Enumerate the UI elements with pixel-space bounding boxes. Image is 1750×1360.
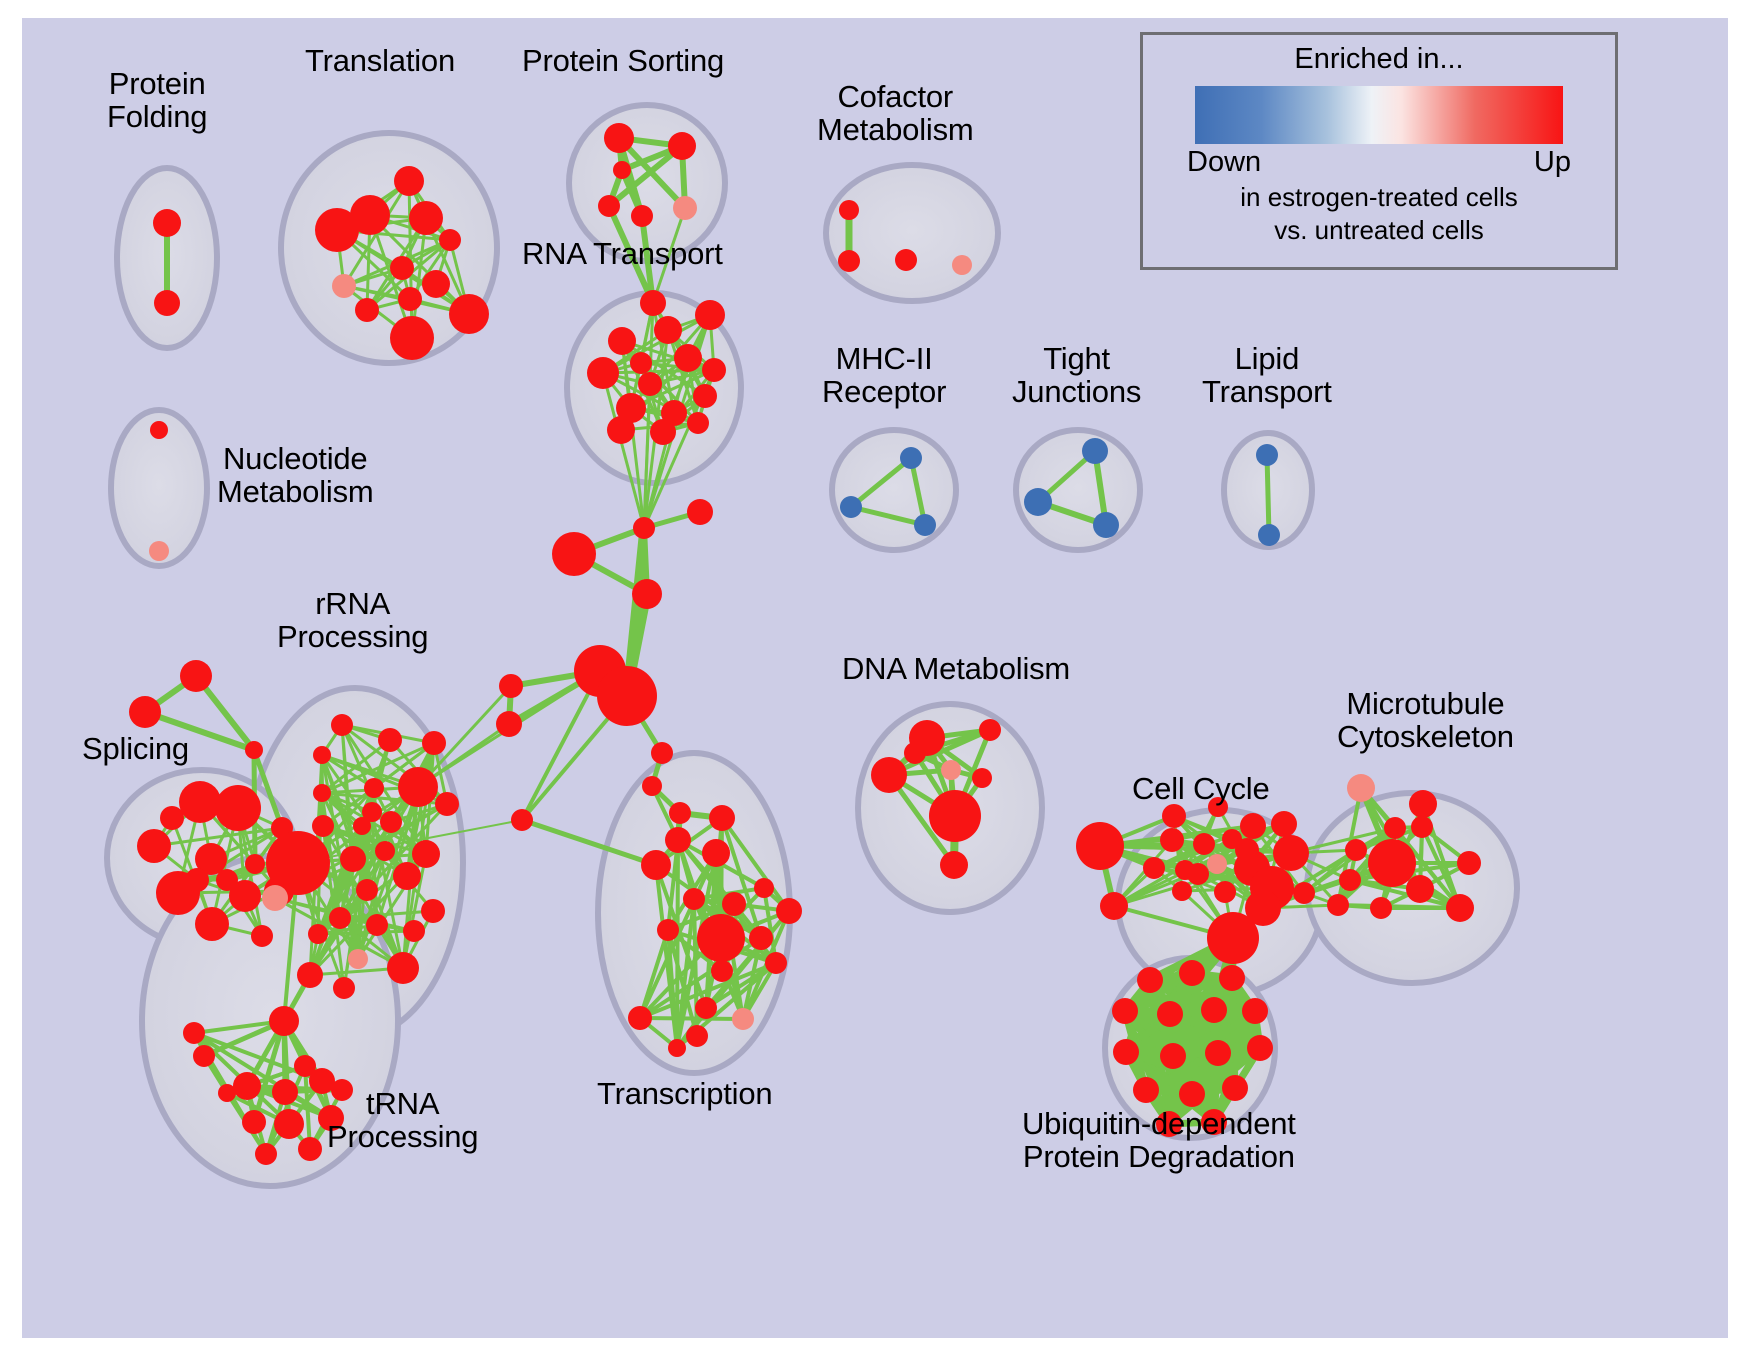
legend-title: Enriched in... [1143,43,1615,76]
network-node-up [422,270,450,298]
network-node-up [378,728,402,752]
network-node-up [665,827,691,853]
network-node-up [398,767,438,807]
network-node-up [687,412,709,434]
network-node-up [398,287,422,311]
network-node-up [1076,822,1124,870]
network-node-up [604,123,634,153]
network-node-light [673,196,697,220]
network-node-up [380,811,402,833]
network-node-up [1193,833,1215,855]
network-node-up [940,851,968,879]
network-node-up [1409,790,1437,818]
network-node-up [1345,839,1367,861]
network-node-up [274,1109,304,1139]
network-node-up [362,802,382,822]
network-node-light [332,274,356,298]
cluster-label-cell-cycle: Cell Cycle [1132,773,1270,806]
network-node-down [1093,512,1119,538]
cluster-label-microtubule-cytoskeleton: Microtubule Cytoskeleton [1337,688,1514,754]
network-node-light [941,760,961,780]
network-node-up [638,372,662,396]
network-node-up [245,741,263,759]
network-node-up [1457,851,1481,875]
network-node-up [1273,835,1309,871]
network-node-up [1113,1039,1139,1065]
network-node-up [1411,816,1433,838]
network-node-up [651,742,673,764]
network-node-up [366,914,388,936]
network-node-up [356,879,378,901]
network-node-up [1205,1040,1231,1066]
network-node-up [390,256,414,280]
network-node-up [722,892,746,916]
legend-gradient-bar [1195,86,1563,144]
network-node-up [297,962,323,988]
network-node-up [597,666,657,726]
network-node-up [364,778,384,798]
network-node-up [195,907,229,941]
network-node-up [439,229,461,251]
network-node-up [1160,1043,1186,1069]
network-node-up [355,298,379,322]
network-node-up [394,166,424,196]
network-node-up [375,841,395,861]
network-node-up [390,316,434,360]
legend-sub-line2: vs. untreated cells [1143,216,1615,245]
network-node-up [1201,997,1227,1023]
network-node-up [839,200,859,220]
network-node-up [607,416,635,444]
network-node-up [1207,912,1259,964]
network-node-up [632,579,662,609]
network-node-up [695,997,717,1019]
network-node-up [1242,998,1268,1024]
cluster-label-protein-sorting: Protein Sorting [522,45,724,78]
cluster-label-lipid-transport: Lipid Transport [1202,343,1332,409]
network-node-up [641,850,671,880]
network-node-up [496,711,522,737]
network-node-up [331,714,353,736]
network-node-up [409,201,443,235]
network-node-up [1112,998,1138,1024]
network-node-down [914,514,936,536]
network-node-up [630,352,652,374]
cluster-label-rna-transport: RNA Transport [522,238,723,271]
network-node-up [640,290,666,316]
network-node-up [1160,828,1184,852]
network-node-up [435,792,459,816]
network-node-up [1187,863,1209,885]
network-node-up [294,1055,316,1077]
network-node-down [1024,488,1052,516]
network-node-up [1219,965,1245,991]
network-node-up [702,839,730,867]
network-node-up [1137,967,1163,993]
network-node-up [1179,960,1205,986]
network-node-up [242,1110,266,1134]
network-node-up [185,868,209,892]
network-node-up [1100,892,1128,920]
network-node-up [552,532,596,576]
network-node-up [251,925,273,947]
network-node-up [150,421,168,439]
network-node-up [654,316,682,344]
network-node-up [1293,882,1315,904]
network-node-up [693,384,717,408]
cluster-label-protein-folding: Protein Folding [107,68,207,134]
network-node-up [895,249,917,271]
network-node-up [697,914,745,962]
network-node-up [179,781,221,823]
network-node-up [686,1025,708,1047]
network-node-up [422,731,446,755]
network-node-up [674,344,702,372]
network-node-up [608,327,636,355]
network-node-up [687,499,713,525]
network-node-up [511,809,533,831]
network-node-up [628,1006,652,1030]
network-node-up [387,952,419,984]
network-node-up [613,161,631,179]
legend-box: Enriched in... Down Up in estrogen-treat… [1140,32,1618,270]
network-node-up [215,785,261,831]
network-node-up [749,926,773,950]
network-node-up [160,806,184,830]
network-node-up [1339,869,1361,891]
network-node-up [657,919,679,941]
network-node-up [1384,817,1406,839]
cluster-label-transcription: Transcription [597,1078,772,1111]
network-node-down [1082,438,1108,464]
network-node-up [1247,1035,1273,1061]
network-node-up [1172,881,1192,901]
network-node-up [245,854,265,874]
legend-sub-line1: in estrogen-treated cells [1143,183,1615,212]
network-node-up [269,1006,299,1036]
legend-up-label: Up [1534,146,1571,179]
network-node-up [154,290,180,316]
network-node-up [313,784,331,802]
network-node-up [1179,1081,1205,1107]
network-node-down [1258,524,1280,546]
network-node-up [421,899,445,923]
network-node-up [153,209,181,237]
network-node-up [313,746,331,764]
network-node-up [298,1137,322,1161]
network-edge [677,840,678,1048]
network-node-up [587,357,619,389]
cluster-label-nucleotide-metabolism: Nucleotide Metabolism [217,443,374,509]
network-node-up [631,205,653,227]
network-node-up [393,862,421,890]
network-node-up [1157,1001,1183,1027]
cluster-label-cofactor-metabolism: Cofactor Metabolism [817,81,974,147]
cluster-ellipse-mhc-ii-receptor [832,430,956,550]
network-node-up [403,920,425,942]
network-node-up [838,250,860,272]
network-node-up [333,977,355,999]
network-node-light [348,949,368,969]
cluster-label-tight-junctions: Tight Junctions [1012,343,1141,409]
cluster-label-splicing: Splicing [82,733,189,766]
network-node-up [979,719,1001,741]
network-node-down [1256,444,1278,466]
network-node-up [180,660,212,692]
network-node-up [668,1039,686,1057]
network-node-up [765,952,787,974]
figure-root: Protein FoldingTranslationProtein Sortin… [0,0,1750,1360]
network-node-up [650,419,676,445]
network-node-up [308,924,328,944]
legend-down-label: Down [1187,146,1261,179]
network-node-up [904,742,926,764]
network-node-up [668,132,696,160]
network-node-up [1143,857,1165,879]
network-node-up [1446,894,1474,922]
network-node-up [183,1022,205,1044]
network-node-up [233,1072,261,1100]
network-node-light [262,885,288,911]
network-node-up [1240,813,1266,839]
network-node-up [1368,839,1416,887]
network-node-up [1133,1077,1159,1103]
cluster-label-trna-processing: tRNA Processing [327,1088,478,1154]
network-node-up [255,1143,277,1165]
network-node-light [952,255,972,275]
cluster-label-rrna-processing: rRNA Processing [277,588,428,654]
network-node-up [1271,811,1297,837]
network-node-down [900,447,922,469]
network-node-up [683,888,705,910]
network-node-light [732,1008,754,1030]
network-node-up [871,757,907,793]
cluster-label-dna-metabolism: DNA Metabolism [842,653,1070,686]
network-node-up [702,358,726,382]
network-node-up [129,696,161,728]
network-node-up [1406,875,1434,903]
network-node-up [709,805,735,831]
network-node-up [669,802,691,824]
network-node-light [1347,774,1375,802]
network-node-up [272,1079,298,1105]
network-node-up [1162,804,1186,828]
cluster-label-translation: Translation [305,45,455,78]
network-node-up [695,300,725,330]
network-node-up [972,768,992,788]
network-node-up [633,517,655,539]
network-node-up [929,790,981,842]
network-node-up [137,829,171,863]
network-node-light [1207,854,1227,874]
network-node-up [449,294,489,334]
network-node-up [1222,1075,1248,1101]
cluster-label-mhc-ii-receptor: MHC-II Receptor [822,343,946,409]
network-node-up [315,208,359,252]
network-node-up [312,815,334,837]
network-node-up [340,846,366,872]
network-edge [1267,455,1269,535]
network-node-up [754,878,774,898]
network-node-up [642,776,662,796]
network-node-down [840,496,862,518]
network-node-up [1370,897,1392,919]
network-edge [640,1018,743,1019]
network-node-up [1222,829,1242,849]
network-node-up [598,195,620,217]
network-node-up [1214,881,1236,903]
network-node-up [329,907,351,929]
network-node-up [776,898,802,924]
network-node-light [149,541,169,561]
cluster-label-ubiquitin-protein-degradation: Ubiquitin-dependent Protein Degradation [1022,1108,1296,1174]
network-node-up [499,674,523,698]
network-node-up [711,960,733,982]
network-node-up [193,1045,215,1067]
network-node-up [1327,894,1349,916]
network-canvas: Protein FoldingTranslationProtein Sortin… [22,18,1728,1338]
network-node-up [412,840,440,868]
network-node-up [218,1084,236,1102]
network-node-up [216,869,238,891]
